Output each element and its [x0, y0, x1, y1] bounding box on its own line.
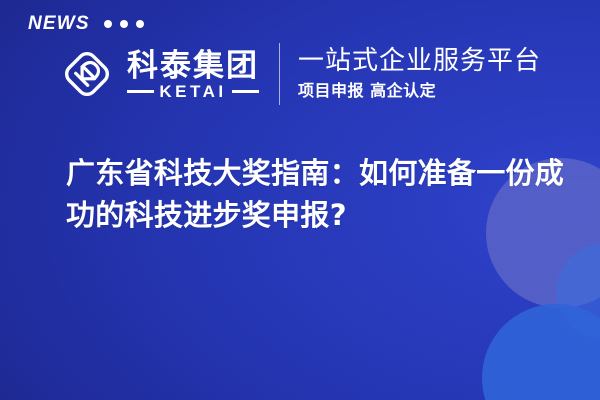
brand-name-cn: 科泰集团 — [127, 50, 259, 83]
decorative-circle-bright — [482, 304, 600, 400]
slogan-main: 一站式企业服务平台 — [298, 47, 541, 77]
decorative-circle-bright-secondary — [556, 244, 600, 340]
news-banner: NEWS 科泰集团 — [0, 0, 600, 400]
article-headline: 广东省科技大奖指南：如何准备一份成功的科技进步奖申报? — [66, 152, 566, 236]
dot-icon — [136, 20, 144, 28]
slogan-block: 一站式企业服务平台 项目申报 高企认定 — [298, 47, 541, 101]
ketai-kd-monogram-icon — [55, 42, 119, 106]
brand-rule-left — [127, 90, 154, 93]
brand-name-en-row: KETAI — [127, 83, 259, 100]
dot-icon — [104, 20, 112, 28]
news-tag: NEWS — [28, 14, 144, 33]
brand-name-en: KETAI — [159, 83, 226, 100]
brand-header: 科泰集团 KETAI 一站式企业服务平台 项目申报 高企认定 — [55, 42, 541, 106]
brand-divider — [279, 43, 280, 105]
news-label: NEWS — [28, 14, 90, 33]
brand-rule-right — [232, 90, 259, 93]
slogan-sub: 项目申报 高企认定 — [298, 81, 541, 101]
brand-wordmark: 科泰集团 KETAI — [127, 50, 259, 101]
dot-icon — [120, 20, 128, 28]
news-dots-icon — [104, 20, 144, 28]
